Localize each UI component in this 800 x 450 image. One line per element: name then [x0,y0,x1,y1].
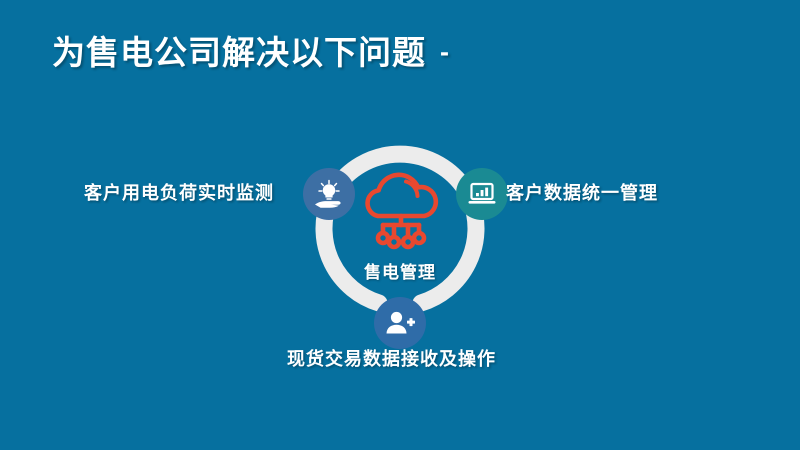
node-label-right: 客户数据统一管理 [506,179,658,205]
badge-left[interactable] [303,168,355,220]
badge-bottom[interactable] [374,297,426,349]
node-label-left: 客户用电负荷实时监测 [84,179,274,205]
node-label-bottom: 现货交易数据接收及操作 [287,345,496,371]
slide-canvas: 为售电公司解决以下问题 - [0,0,800,450]
laptop-bar-chart-icon [466,178,498,210]
center-caption: 售电管理 [305,258,495,283]
cloud-computing-icon [356,168,446,253]
add-user-icon [384,307,416,339]
cycle-diagram: 售电管理 [0,0,800,450]
lightbulb-on-hand-icon [312,177,346,211]
badge-right[interactable] [456,168,508,220]
